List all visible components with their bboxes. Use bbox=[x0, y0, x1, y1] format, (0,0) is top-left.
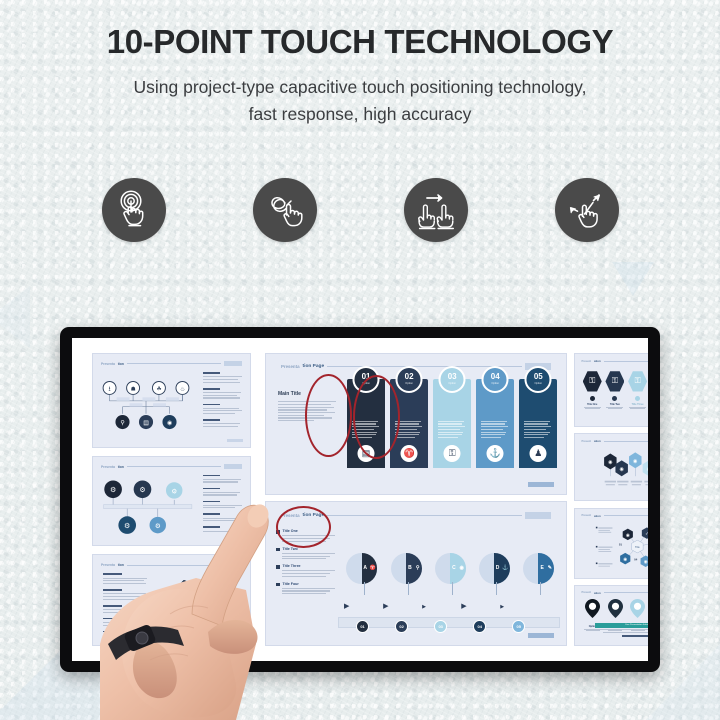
anchor-icon: ⚓ bbox=[487, 445, 504, 462]
map-pin-slide[interactable]: Present ation Option bbox=[574, 585, 648, 646]
svg-text:◉: ◉ bbox=[633, 458, 638, 464]
svg-text:⚲: ⚲ bbox=[121, 420, 125, 427]
decorative-triangle-top-right bbox=[612, 262, 654, 296]
pinch-zoom-gesture-icon bbox=[555, 178, 619, 242]
header-block: 10-POINT TOUCH TECHNOLOGY Using project-… bbox=[0, 24, 720, 127]
option-number-badge-03[interactable]: 03 Option bbox=[439, 366, 466, 393]
slide-header-rule bbox=[327, 515, 522, 516]
slide-header-button[interactable] bbox=[224, 361, 242, 366]
svg-text:♨: ♨ bbox=[180, 386, 185, 392]
lightbulb-icon: ♈ bbox=[370, 565, 376, 571]
option-caption: Option bbox=[362, 382, 370, 385]
lock-icon: ⚿ bbox=[635, 377, 641, 385]
svg-text:⚙: ⚙ bbox=[140, 486, 146, 494]
hexagon-zigzag-slide[interactable]: Present ation ◉ ◉ ◉ ◉ bbox=[574, 433, 648, 501]
option-column-05[interactable]: 05 Option ♟ bbox=[519, 379, 557, 468]
option-body-text bbox=[390, 405, 428, 438]
timeline-node-05[interactable]: 05 bbox=[512, 620, 525, 633]
option-caption: Option bbox=[534, 382, 542, 385]
hexagon-item[interactable]: ⚿ Title Two bbox=[605, 371, 624, 409]
gesture-icon-row bbox=[0, 178, 720, 242]
radial-hexagon-diagram: Title ◉ ✓ ◉ ◉ ◉ 0102 0304 bbox=[580, 521, 648, 572]
slide-header: Presenta tion bbox=[101, 463, 242, 470]
timeline-node-04[interactable]: 04 bbox=[473, 620, 486, 633]
lock-icon: ⚿ bbox=[444, 445, 461, 462]
slide-header-prefix: Presenta bbox=[281, 364, 300, 369]
timeline-item-a[interactable]: A ♈ bbox=[344, 531, 384, 611]
main-title-body bbox=[278, 401, 338, 421]
option-caption: Option bbox=[491, 382, 499, 385]
subtitle-block: Using project-type capacitive touch posi… bbox=[0, 74, 720, 127]
slide-header-button[interactable] bbox=[525, 512, 551, 519]
timeline-bar bbox=[338, 617, 560, 628]
timeline-ball: A ♈ bbox=[346, 553, 377, 584]
option-column-03[interactable]: 03 Option ⚿ bbox=[433, 379, 471, 468]
option-caption: Option bbox=[405, 382, 413, 385]
timeline-half-disc: D ⚓ bbox=[494, 553, 510, 584]
timeline-node-01[interactable]: 01 bbox=[356, 620, 369, 633]
timeline-half-disc: C ◉ bbox=[450, 553, 466, 584]
slide-header-prefix: Present bbox=[582, 440, 592, 443]
option-number-badge-02[interactable]: 02 Option bbox=[396, 366, 423, 393]
slide-header-title: tion bbox=[118, 465, 124, 469]
map-pin-icon bbox=[608, 599, 623, 618]
slide-footer-badge bbox=[227, 439, 243, 443]
slide-header-rule bbox=[604, 361, 648, 362]
option-number: 02 bbox=[405, 373, 414, 381]
main-title-text: Main Title bbox=[278, 391, 301, 397]
timeline-letter: D bbox=[496, 565, 500, 571]
decorative-triangle-left-mid bbox=[0, 286, 30, 348]
slide-header-title: ation bbox=[594, 439, 601, 443]
tree-diagram: ⭳ ☗ ☘ ♨ ⚲ bbox=[99, 372, 196, 439]
timeline-item-c[interactable]: C ◉ bbox=[432, 531, 472, 611]
subtitle-banner-label: Your Presentation Subtitle bbox=[625, 624, 648, 626]
touching-hand bbox=[96, 494, 346, 720]
slide-header-title: ation bbox=[594, 514, 601, 518]
hexagon-dot bbox=[635, 396, 640, 401]
option-column-02[interactable]: 02 Option ♈ bbox=[390, 379, 428, 468]
map-pin-icon bbox=[585, 599, 600, 618]
hexagon-shape: ⚿ bbox=[583, 371, 602, 392]
timeline-arrow: ▶ bbox=[383, 602, 388, 610]
slide-header-prefix: Presenta bbox=[101, 362, 115, 366]
radial-center-label: Title bbox=[635, 545, 640, 549]
slide-header: Present ation bbox=[582, 590, 649, 595]
slide-header-prefix: Present bbox=[582, 514, 592, 517]
timeline-letter: A bbox=[363, 565, 367, 571]
timeline-ball: D ⚓ bbox=[479, 553, 510, 584]
hexagon-shape: ⚿ bbox=[605, 371, 624, 392]
slide-header-title: ation bbox=[594, 359, 601, 363]
hexagon-label: Title Three bbox=[628, 403, 647, 406]
svg-text:☗: ☗ bbox=[131, 386, 136, 392]
banner-caption bbox=[598, 629, 648, 637]
svg-text:◉: ◉ bbox=[619, 466, 624, 472]
svg-text:◉: ◉ bbox=[626, 532, 630, 537]
slide-header-rule bbox=[127, 363, 221, 364]
slide-header-title: tion bbox=[118, 362, 124, 366]
hexagon-zigzag-diagram: ◉ ◉ ◉ ◉ ◉ bbox=[582, 449, 649, 490]
timeline-stem bbox=[364, 582, 365, 595]
hexagon-row-slide[interactable]: Present ation ⚿ Title One ⚿ bbox=[574, 353, 648, 427]
timeline-item-e[interactable]: E ✎ bbox=[521, 531, 561, 611]
timeline-stem bbox=[496, 582, 497, 595]
hexagon-shape: ⚿ bbox=[628, 371, 647, 392]
option-number-badge-01[interactable]: 01 Option bbox=[353, 366, 380, 393]
five-column-options-slide[interactable]: Presenta tion Page Main Title 01 bbox=[265, 353, 567, 495]
calendar-icon: ▤ bbox=[358, 445, 375, 462]
timeline-node-03[interactable]: 03 bbox=[434, 620, 447, 633]
slide-footer-badge bbox=[528, 633, 554, 638]
svg-text:◉: ◉ bbox=[644, 559, 648, 564]
two-finger-swipe-gesture-icon bbox=[404, 178, 468, 242]
map-pin-icon bbox=[630, 599, 645, 618]
slide-text-column bbox=[203, 372, 244, 429]
slide-header: Present ation bbox=[582, 513, 649, 518]
option-number: 03 bbox=[448, 373, 457, 381]
timeline-ball: B ⚲ bbox=[391, 553, 422, 584]
lock-icon: ⚿ bbox=[589, 377, 595, 385]
option-column-04[interactable]: 04 Option ⚓ bbox=[476, 379, 514, 468]
hexagon-item[interactable]: ⚿ Title Three bbox=[628, 371, 647, 409]
timeline-letter: C bbox=[452, 565, 456, 571]
lock-icon: ⚿ bbox=[612, 377, 618, 385]
slide-header: Present ation bbox=[582, 359, 649, 364]
option-number: 05 bbox=[534, 373, 543, 381]
lightbulb-icon: ♈ bbox=[401, 445, 418, 462]
slide-footer-badge bbox=[528, 482, 554, 487]
slide-header-prefix: Present bbox=[582, 360, 592, 363]
timeline-letter: B bbox=[408, 565, 412, 571]
subtitle-line-1: Using project-type capacitive touch posi… bbox=[0, 74, 720, 100]
hexagon-label: Title One bbox=[583, 403, 602, 406]
search-icon: ⚲ bbox=[416, 565, 420, 571]
timeline-half-disc: A ♈ bbox=[362, 553, 378, 584]
timeline-arrow: ▶ bbox=[461, 602, 466, 610]
timeline-ball: C ◉ bbox=[435, 553, 466, 584]
option-body-text bbox=[347, 405, 385, 438]
svg-text:◉: ◉ bbox=[646, 466, 648, 472]
timeline-node-02[interactable]: 02 bbox=[395, 620, 408, 633]
scribble-draw-gesture-icon bbox=[253, 178, 317, 242]
tree-hierarchy-slide[interactable]: Presenta tion ⭳ ☗ ☘ bbox=[92, 353, 250, 448]
subtitle-banner[interactable]: Your Presentation Subtitle bbox=[595, 623, 648, 628]
timeline-item-group: A ♈ B ⚲ bbox=[344, 531, 560, 611]
anchor-icon: ⚓ bbox=[502, 565, 508, 571]
hexagon-label: Title Two bbox=[605, 403, 624, 406]
slide-header-prefix: Present bbox=[582, 591, 592, 594]
timeline-ball: E ✎ bbox=[523, 553, 554, 584]
options-column-group: 01 Option ▤ 02 Option bbox=[347, 379, 557, 483]
svg-text:◉: ◉ bbox=[167, 421, 172, 427]
timeline-item-d[interactable]: D ⚓ bbox=[476, 531, 516, 611]
svg-text:01: 01 bbox=[619, 542, 623, 546]
slide-header: Present ation bbox=[582, 439, 649, 444]
timeline-stem bbox=[540, 582, 541, 595]
slide-header-rule bbox=[604, 441, 648, 442]
option-caption: Option bbox=[448, 382, 456, 385]
user-icon: ♟ bbox=[530, 445, 547, 462]
svg-text:⭳: ⭳ bbox=[109, 385, 111, 392]
timeline-arrow: ▶ bbox=[500, 604, 504, 610]
option-number-badge-05[interactable]: 05 Option bbox=[525, 366, 552, 393]
option-body-text bbox=[519, 405, 557, 438]
timeline-half-disc: E ✎ bbox=[538, 553, 554, 584]
page-title: 10-POINT TOUCH TECHNOLOGY bbox=[0, 24, 720, 60]
timeline-stem bbox=[452, 582, 453, 595]
slide-header: Presenta tion bbox=[101, 360, 242, 367]
svg-text:04: 04 bbox=[634, 558, 638, 562]
subtitle-line-2: fast response, high accuracy bbox=[0, 101, 720, 127]
option-number-badge-04[interactable]: 04 Option bbox=[482, 366, 509, 393]
slide-header-title: ation bbox=[594, 591, 601, 595]
single-tap-gesture-icon bbox=[102, 178, 166, 242]
svg-text:☘: ☘ bbox=[157, 386, 162, 392]
option-body-text bbox=[433, 405, 471, 438]
slide-header-title: tion Page bbox=[303, 364, 325, 369]
hexagon-dot bbox=[612, 396, 617, 401]
hexagon-group: ⚿ Title One ⚿ Title Two ⚿ bbox=[583, 371, 648, 409]
option-number: 04 bbox=[491, 373, 500, 381]
option-column-01[interactable]: 01 Option ▤ bbox=[347, 379, 385, 468]
svg-text:⚙: ⚙ bbox=[110, 486, 116, 494]
timeline-stem bbox=[408, 582, 409, 595]
timeline-item-b[interactable]: B ⚲ bbox=[388, 531, 428, 611]
svg-text:▤: ▤ bbox=[144, 421, 150, 427]
slide-header-rule bbox=[604, 592, 648, 593]
option-body-text bbox=[476, 405, 514, 438]
svg-text:◉: ◉ bbox=[608, 459, 613, 465]
hexagon-dot bbox=[590, 396, 595, 401]
timeline-arrow: ▶ bbox=[422, 604, 426, 610]
timeline-letter: E bbox=[540, 565, 543, 571]
svg-text:◉: ◉ bbox=[624, 557, 628, 562]
svg-text:✓: ✓ bbox=[645, 531, 648, 536]
timeline-half-disc: B ⚲ bbox=[406, 553, 422, 584]
main-title-block: Main Title bbox=[278, 391, 338, 423]
slide-header-rule bbox=[604, 515, 648, 516]
slide-header-prefix: Presenta bbox=[101, 465, 115, 469]
option-number: 01 bbox=[362, 373, 371, 381]
slide-header-rule bbox=[127, 466, 221, 467]
target-icon: ◉ bbox=[459, 565, 463, 571]
pencil-icon: ✎ bbox=[548, 565, 552, 571]
hexagon-item[interactable]: ⚿ Title One bbox=[583, 371, 602, 409]
slide-header-button[interactable] bbox=[224, 464, 242, 469]
radial-hexagon-slide[interactable]: Present ation Title ◉ ✓ ◉ bbox=[574, 508, 648, 579]
